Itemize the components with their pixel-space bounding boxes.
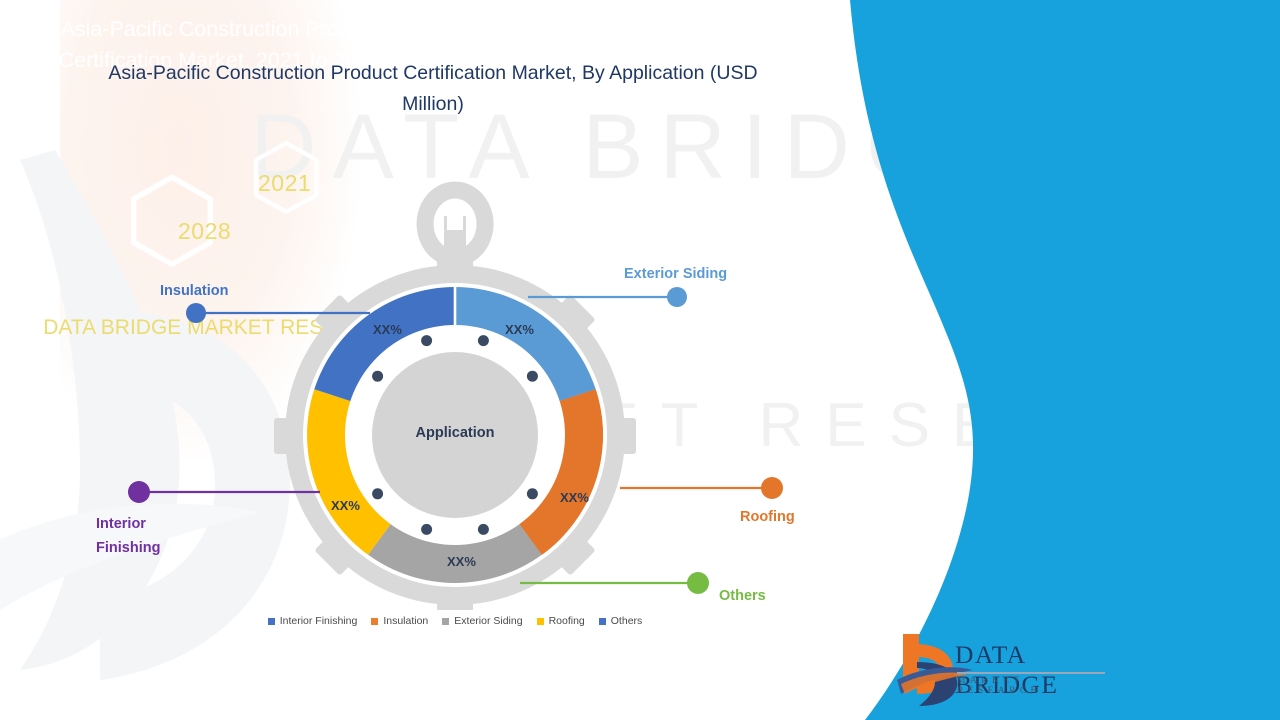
chart-title: Asia-Pacific Construction Product Certif… [108, 58, 758, 120]
legend-label: Others [611, 615, 643, 627]
callout-label-roofing: Roofing [740, 508, 795, 526]
legend-swatch [371, 618, 378, 625]
legend-swatch [537, 618, 544, 625]
legend-swatch [599, 618, 606, 625]
legend-label: Exterior Siding [454, 615, 522, 627]
legend-swatch [442, 618, 449, 625]
data-label-others: XX% [447, 554, 476, 569]
data-label-roofing: XX% [560, 490, 589, 505]
legend-item: Roofing [537, 615, 585, 627]
callout-label-interior-finishing: Interior Finishing [96, 512, 192, 560]
data-label-insulation: XX% [373, 322, 402, 337]
legend-label: Roofing [549, 615, 585, 627]
center-label: Application [255, 425, 655, 441]
logo-text-sub: MARKET RESEARCH [957, 676, 1110, 696]
hexagon-year-2028: 2028 [178, 218, 231, 245]
callout-dot-roofing [761, 477, 783, 499]
callout-label-exterior-siding: Exterior Siding [624, 265, 727, 283]
callout-label-insulation: Insulation [160, 282, 228, 300]
infographic-slide: DATA BRIDGE MARKET RESEARCH Asia-Pacific… [0, 0, 1280, 720]
callout-dot-others [687, 572, 709, 594]
legend-label: Insulation [383, 615, 428, 627]
legend-item: Exterior Siding [442, 615, 522, 627]
right-blue-panel [840, 0, 1280, 720]
data-label-interior-finishing: XX% [331, 498, 360, 513]
legend-label: Interior Finishing [280, 615, 358, 627]
legend-item: Insulation [371, 615, 428, 627]
data-label-exterior-siding: XX% [505, 322, 534, 337]
chart-legend: Interior FinishingInsulationExterior Sid… [0, 615, 910, 627]
logo-divider [957, 672, 1105, 674]
callout-label-others: Others [719, 587, 766, 605]
legend-swatch [268, 618, 275, 625]
data-bridge-logo: DATA BRIDGE MARKET RESEARCH [895, 628, 1110, 710]
callout-dot-exterior-siding [667, 287, 687, 307]
legend-item: Interior Finishing [268, 615, 358, 627]
legend-item: Others [599, 615, 643, 627]
donut-chart: XX% XX% XX% XX% XX% Application [255, 150, 655, 610]
